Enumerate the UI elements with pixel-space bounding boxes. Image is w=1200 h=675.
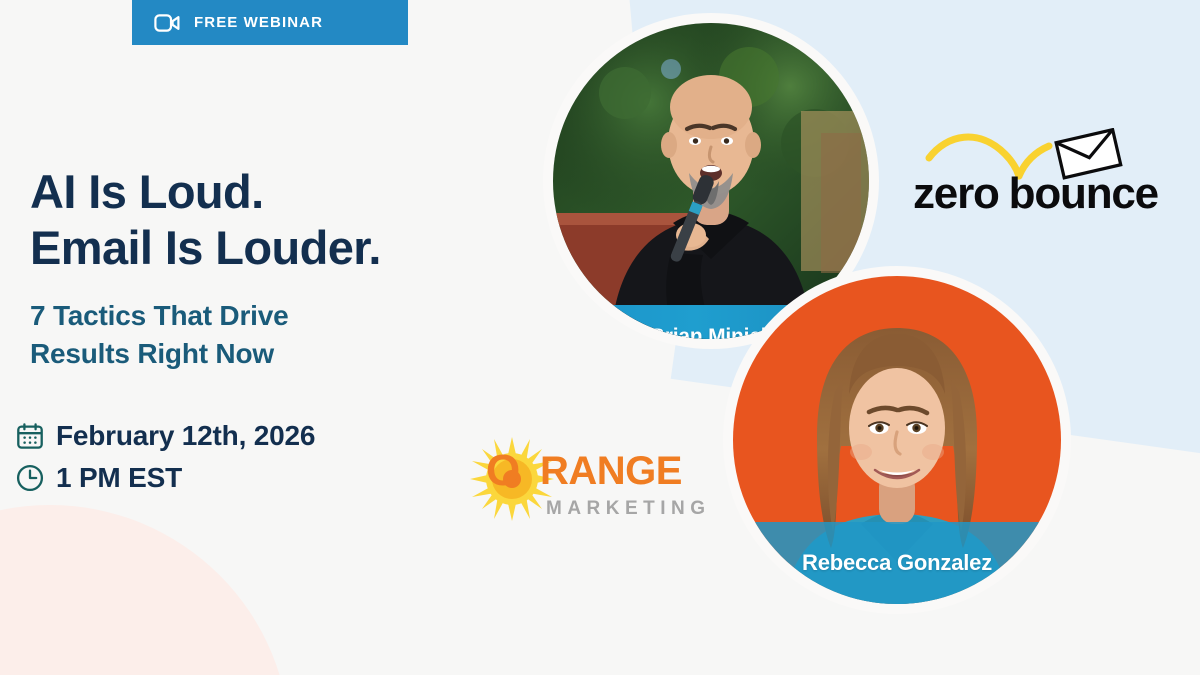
event-details: February 12th, 2026 1 PM EST bbox=[16, 415, 315, 499]
zerobounce-logo: zerobounce bbox=[913, 128, 1161, 214]
calendar-icon bbox=[16, 422, 44, 450]
clock-icon bbox=[16, 464, 44, 492]
page-subtitle: 7 Tactics That Drive Results Right Now bbox=[30, 297, 460, 372]
subheadline-line-2: Results Right Now bbox=[30, 335, 460, 373]
event-time-row: 1 PM EST bbox=[16, 457, 315, 499]
page-title: AI Is Loud. Email Is Louder. bbox=[30, 164, 570, 276]
orange-logo-subtitle: MARKETING bbox=[546, 499, 711, 518]
badge-label: FREE WEBINAR bbox=[194, 14, 323, 31]
zerobounce-word-zero: zero bbox=[913, 169, 999, 218]
free-webinar-badge: FREE WEBINAR bbox=[132, 0, 408, 45]
zerobounce-wordmark: zerobounce bbox=[913, 172, 1161, 216]
zerobounce-word-bounce: bounce bbox=[1009, 169, 1158, 218]
speaker-name-band-rebecca: Rebecca Gonzalez bbox=[733, 522, 1061, 604]
subheadline-line-1: 7 Tactics That Drive bbox=[30, 300, 288, 331]
event-time-text: 1 PM EST bbox=[56, 462, 182, 494]
event-date-text: February 12th, 2026 bbox=[56, 420, 315, 452]
speaker-card-rebecca: Rebecca Gonzalez bbox=[733, 276, 1061, 604]
orange-marketing-logo: O RANGE MARKETING bbox=[462, 437, 684, 533]
orange-logo-word: RANGE bbox=[540, 451, 682, 491]
headline-line-1: AI Is Loud. bbox=[30, 165, 264, 218]
headline-line-2: Email Is Louder. bbox=[30, 220, 570, 276]
pink-background-circle bbox=[0, 505, 290, 675]
orange-logo-initial: O bbox=[486, 449, 520, 493]
event-date-row: February 12th, 2026 bbox=[16, 415, 315, 457]
webinar-promo-graphic: FREE WEBINAR AI Is Loud. Email Is Louder… bbox=[0, 0, 1200, 675]
video-camera-icon bbox=[154, 14, 180, 32]
speaker-name-rebecca: Rebecca Gonzalez bbox=[802, 550, 992, 576]
